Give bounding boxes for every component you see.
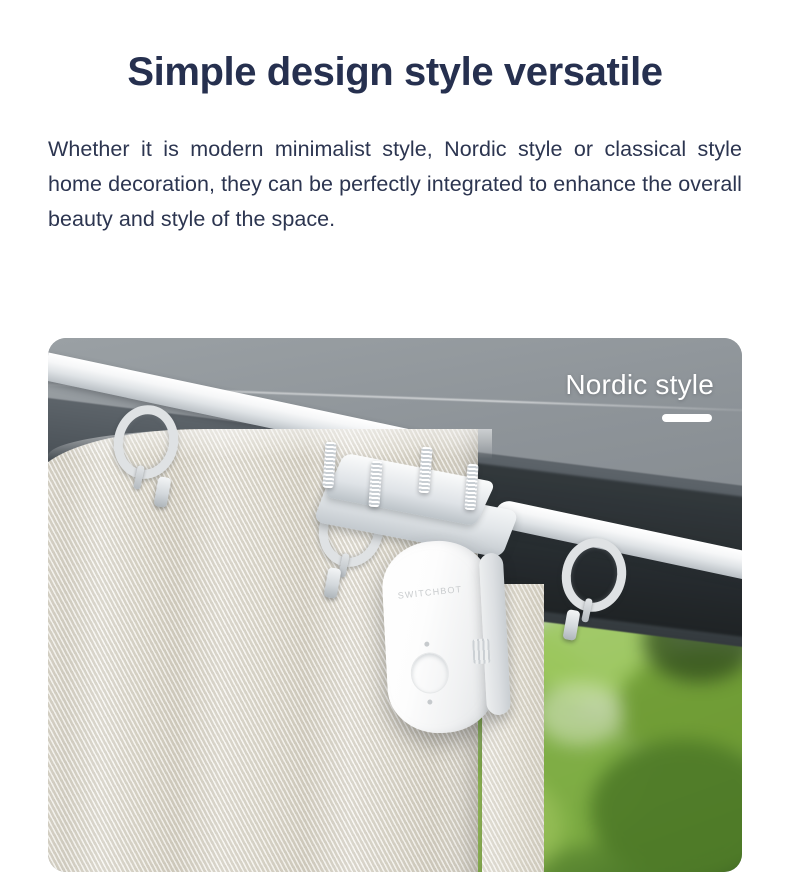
motor-power-button[interactable] — [409, 652, 450, 694]
motor-led-indicator — [427, 699, 432, 704]
motor-vent-grille — [472, 638, 490, 664]
product-photo-card: SWITCHBOT Nordic style — [48, 338, 742, 872]
heading-block: Simple design style versatile Whether it… — [0, 0, 790, 237]
page-title: Simple design style versatile — [48, 0, 742, 100]
photo-caption-text: Nordic style — [565, 368, 714, 402]
caption-underline-bar — [662, 414, 712, 422]
motor-brand-logo: SWITCHBOT — [397, 584, 462, 601]
page-description: Whether it is modern minimalist style, N… — [48, 132, 742, 237]
smart-curtain-motor: SWITCHBOT — [380, 538, 497, 736]
motor-led-indicator — [424, 641, 429, 646]
product-feature-page: Simple design style versatile Whether it… — [0, 0, 790, 882]
foliage-blob — [537, 682, 624, 746]
photo-caption: Nordic style — [565, 368, 714, 427]
